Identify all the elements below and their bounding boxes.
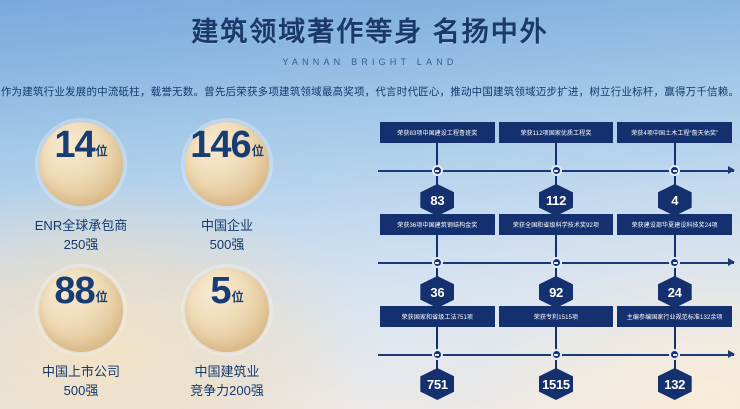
award-label: 荣获36项中国建筑钢结构金奖 bbox=[380, 214, 495, 235]
timeline-node-icon bbox=[432, 349, 443, 360]
stat-medallion: 5 位 bbox=[185, 268, 269, 352]
stat-label: ENR全球承包商 250强 bbox=[35, 217, 127, 255]
timeline-item[interactable]: 荣获4项中国土木工程“詹天佑奖” 4 bbox=[615, 122, 734, 214]
stat-number: 14 bbox=[54, 126, 94, 164]
award-label: 荣获112项国家优质工程奖 bbox=[499, 122, 614, 143]
stat-unit: 位 bbox=[252, 142, 264, 159]
stat-label: 中国建筑业 竞争力200强 bbox=[190, 363, 264, 401]
stat-unit: 位 bbox=[96, 142, 108, 159]
awards-timeline: 荣获83项中国建设工程鲁班奖 83 荣获112项国家优质工程奖 112 荣获4项… bbox=[378, 122, 734, 400]
page-header: 建筑领域著作等身 名扬中外 YANNAN BRIGHT LAND bbox=[0, 0, 740, 67]
stat-label: 中国上市公司 500强 bbox=[42, 363, 120, 401]
award-label: 主编参编国家行业规范标准132余项 bbox=[617, 306, 732, 327]
stat-card: 88 位 中国上市公司 500强 bbox=[8, 268, 154, 409]
stat-label-line1: ENR全球承包商 bbox=[35, 218, 127, 233]
stat-label-line2: 250强 bbox=[35, 236, 127, 255]
award-label: 荣获全国和省级科学技术奖92项 bbox=[499, 214, 614, 235]
timeline-item[interactable]: 主编参编国家行业规范标准132余项 132 bbox=[615, 306, 734, 398]
award-count-badge: 36 bbox=[420, 276, 454, 308]
award-label: 荣获83项中国建设工程鲁班奖 bbox=[380, 122, 495, 143]
timeline-item[interactable]: 荣获国家和省级工法751项 751 bbox=[378, 306, 497, 398]
timeline-node-icon bbox=[669, 349, 680, 360]
award-count-badge: 112 bbox=[539, 184, 573, 216]
award-label: 荣获国家和省级工法751项 bbox=[380, 306, 495, 327]
award-count-badge: 83 bbox=[420, 184, 454, 216]
award-count-badge: 751 bbox=[420, 368, 454, 400]
timeline-node-icon bbox=[669, 257, 680, 268]
page-subtitle: YANNAN BRIGHT LAND bbox=[0, 57, 740, 67]
timeline-items: 荣获83项中国建设工程鲁班奖 83 荣获112项国家优质工程奖 112 荣获4项… bbox=[378, 122, 734, 214]
award-count-badge: 132 bbox=[658, 368, 692, 400]
stat-label-line1: 中国建筑业 bbox=[194, 364, 259, 379]
page-title: 建筑领域著作等身 名扬中外 bbox=[0, 16, 740, 50]
stat-number: 146 bbox=[190, 126, 250, 164]
stat-medallion: 146 位 bbox=[185, 122, 269, 206]
timeline-row: 荣获36项中国建筑钢结构金奖 36 荣获全国和省级科学技术奖92项 92 荣获建… bbox=[378, 214, 734, 306]
timeline-row: 荣获83项中国建设工程鲁班奖 83 荣获112项国家优质工程奖 112 荣获4项… bbox=[378, 122, 734, 214]
timeline-node-icon bbox=[432, 165, 443, 176]
timeline-item[interactable]: 荣获112项国家优质工程奖 112 bbox=[497, 122, 616, 214]
timeline-items: 荣获36项中国建筑钢结构金奖 36 荣获全国和省级科学技术奖92项 92 荣获建… bbox=[378, 214, 734, 306]
stat-number: 88 bbox=[54, 272, 94, 310]
stat-card: 14 位 ENR全球承包商 250强 bbox=[8, 122, 154, 268]
page-description: 作为建筑行业发展的中流砥柱，载誉无数。曾先后荣获多项建筑领域最高奖项，代言时代匠… bbox=[0, 84, 740, 99]
timeline-item[interactable]: 荣获全国和省级科学技术奖92项 92 bbox=[497, 214, 616, 306]
stat-medallion: 88 位 bbox=[39, 268, 123, 352]
stat-unit: 位 bbox=[96, 288, 108, 305]
award-count-badge: 92 bbox=[539, 276, 573, 308]
timeline-item[interactable]: 荣获36项中国建筑钢结构金奖 36 bbox=[378, 214, 497, 306]
stat-card: 5 位 中国建筑业 竞争力200强 bbox=[154, 268, 300, 409]
stat-number: 5 bbox=[210, 272, 230, 310]
stat-label-line2: 500强 bbox=[201, 236, 253, 255]
award-label: 荣获4项中国土木工程“詹天佑奖” bbox=[617, 122, 732, 143]
award-count-badge: 1515 bbox=[539, 368, 573, 400]
award-count-badge: 24 bbox=[658, 276, 692, 308]
stat-medallion: 14 位 bbox=[39, 122, 123, 206]
award-count-badge: 4 bbox=[658, 184, 692, 216]
timeline-node-icon bbox=[432, 257, 443, 268]
stat-label-line2: 500强 bbox=[42, 382, 120, 401]
award-label: 荣获专利1515项 bbox=[499, 306, 614, 327]
timeline-item[interactable]: 荣获建设部华夏建设科技奖24项 24 bbox=[615, 214, 734, 306]
timeline-item[interactable]: 荣获83项中国建设工程鲁班奖 83 bbox=[378, 122, 497, 214]
timeline-node-icon bbox=[551, 257, 562, 268]
stat-label-line1: 中国企业 bbox=[201, 218, 253, 233]
stat-label-line1: 中国上市公司 bbox=[42, 364, 120, 379]
timeline-items: 荣获国家和省级工法751项 751 荣获专利1515项 1515 主编参编国家行… bbox=[378, 306, 734, 398]
stat-label-line2: 竞争力200强 bbox=[190, 382, 264, 401]
stat-unit: 位 bbox=[232, 288, 244, 305]
timeline-node-icon bbox=[551, 165, 562, 176]
promo-page: 建筑领域著作等身 名扬中外 YANNAN BRIGHT LAND 作为建筑行业发… bbox=[0, 0, 740, 409]
timeline-node-icon bbox=[669, 165, 680, 176]
timeline-node-icon bbox=[551, 349, 562, 360]
stat-label: 中国企业 500强 bbox=[201, 217, 253, 255]
timeline-item[interactable]: 荣获专利1515项 1515 bbox=[497, 306, 616, 398]
stats-grid: 14 位 ENR全球承包商 250强 146 位 中国企业 500强 88 位 bbox=[8, 122, 300, 409]
award-label: 荣获建设部华夏建设科技奖24项 bbox=[617, 214, 732, 235]
timeline-row: 荣获国家和省级工法751项 751 荣获专利1515项 1515 主编参编国家行… bbox=[378, 306, 734, 398]
stat-card: 146 位 中国企业 500强 bbox=[154, 122, 300, 268]
